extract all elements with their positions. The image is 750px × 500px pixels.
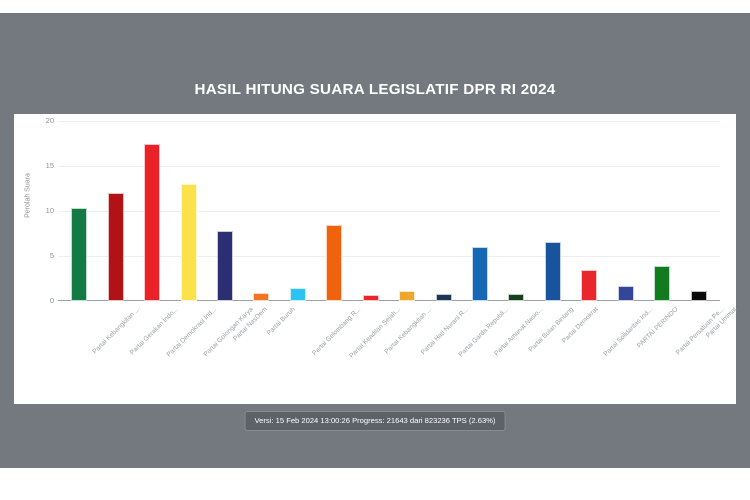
- x-label-slot: Partai Ummat: [680, 304, 716, 402]
- y-tick-label: 5: [24, 252, 54, 260]
- chart-panel: HASIL HITUNG SUARA LEGISLATIF DPR RI 202…: [0, 13, 750, 468]
- bar-slot: [535, 121, 571, 301]
- x-label-slot: Partai Bulan Bintang: [498, 304, 534, 402]
- y-axis-ticks: 05101520: [20, 121, 54, 301]
- chart-card: Perolah Suara 05101520 Partai Kebangkita…: [14, 114, 736, 404]
- bar[interactable]: [654, 266, 670, 301]
- x-label-slot: Partai Gelombang R...: [280, 304, 316, 402]
- bar[interactable]: [399, 291, 415, 301]
- x-label-slot: Partai Kebangkitan ...: [353, 304, 389, 402]
- x-label-slot: Partai Kebangkitan ...: [61, 304, 97, 402]
- bar-slot: [425, 121, 461, 301]
- screenshot-root: HASIL HITUNG SUARA LEGISLATIF DPR RI 202…: [0, 0, 750, 500]
- bar[interactable]: [290, 288, 306, 301]
- bar-slot: [170, 121, 206, 301]
- y-tick-label: 0: [24, 297, 54, 305]
- x-label-slot: Partai Amanat Nasio...: [462, 304, 498, 402]
- x-label-slot: Partai Keadilan Sejah...: [316, 304, 352, 402]
- status-badge: Versi: 15 Feb 2024 13:00:26 Progress: 21…: [245, 411, 506, 431]
- x-label-slot: Partai Demokrasi Ind...: [134, 304, 170, 402]
- bar[interactable]: [545, 242, 561, 301]
- title-band: HASIL HITUNG SUARA LEGISLATIF DPR RI 202…: [0, 13, 750, 101]
- y-tick-label: 10: [24, 207, 54, 215]
- page-title: HASIL HITUNG SUARA LEGISLATIF DPR RI 202…: [0, 81, 750, 98]
- bar[interactable]: [326, 225, 342, 301]
- bar-slot: [389, 121, 425, 301]
- bar[interactable]: [108, 193, 124, 301]
- bar-slot: [498, 121, 534, 301]
- bar[interactable]: [436, 294, 452, 301]
- bar-slot: [608, 121, 644, 301]
- bar[interactable]: [144, 144, 160, 302]
- x-label-slot: Partai NasDem: [207, 304, 243, 402]
- bar[interactable]: [618, 286, 634, 301]
- bar-slot: [680, 121, 716, 301]
- bar-slot: [97, 121, 133, 301]
- y-tick-label: 15: [24, 162, 54, 170]
- x-label-slot: PARTAI PERINDO: [608, 304, 644, 402]
- bar[interactable]: [181, 184, 197, 301]
- bar-slot: [353, 121, 389, 301]
- bar[interactable]: [691, 291, 707, 301]
- bar-slot: [316, 121, 352, 301]
- bar[interactable]: [71, 208, 87, 301]
- bar[interactable]: [217, 231, 233, 301]
- y-tick-label: 20: [24, 117, 54, 125]
- bar-slot: [207, 121, 243, 301]
- x-axis-ticks: Partai Kebangkitan ...Partai Gerakan Ind…: [58, 304, 720, 402]
- x-label-slot: Partai Golongan Karya: [170, 304, 206, 402]
- bar-slot: [243, 121, 279, 301]
- x-label-slot: Partai Persatuan Pe...: [644, 304, 680, 402]
- bar[interactable]: [253, 293, 269, 301]
- bar[interactable]: [581, 270, 597, 301]
- bar-slot: [280, 121, 316, 301]
- x-label-slot: Partai Demokrat: [535, 304, 571, 402]
- x-label-slot: Partai Buruh: [243, 304, 279, 402]
- bar-slot: [61, 121, 97, 301]
- x-label-slot: Partai Solidaritas Ind...: [571, 304, 607, 402]
- x-label-slot: Partai Garda Republi...: [425, 304, 461, 402]
- bar-slot: [644, 121, 680, 301]
- bar[interactable]: [363, 295, 379, 301]
- bar-slot: [134, 121, 170, 301]
- bar-slot: [571, 121, 607, 301]
- bar-series: [58, 121, 720, 301]
- x-label-slot: Partai Hati Nurani R...: [389, 304, 425, 402]
- bar-slot: [462, 121, 498, 301]
- x-label-slot: Partai Gerakan Indo...: [97, 304, 133, 402]
- bar[interactable]: [508, 294, 524, 301]
- bar[interactable]: [472, 247, 488, 301]
